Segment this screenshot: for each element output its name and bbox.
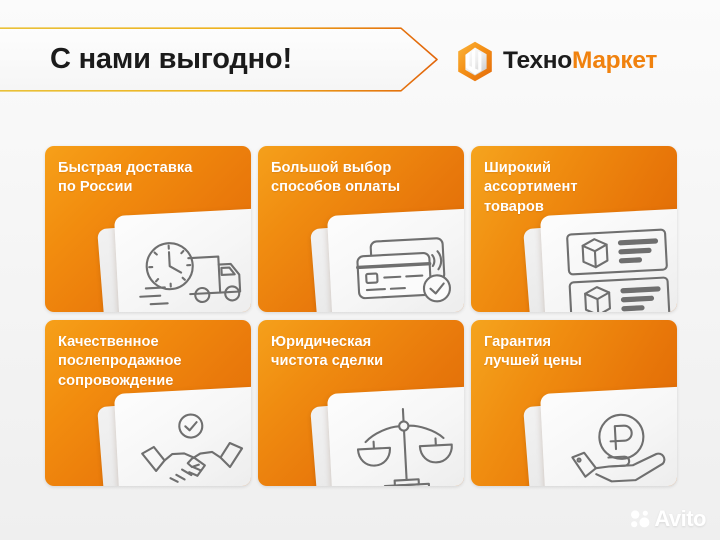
credit-card-check-icon <box>348 229 462 312</box>
promo-banner-image: С нами выгодно! <box>0 0 720 540</box>
feature-card-illustration <box>543 212 677 312</box>
illustration-sheet-front <box>114 208 251 312</box>
feature-card-illustration <box>330 212 464 312</box>
feature-card-illustration <box>543 390 677 486</box>
feature-card-grid: Быстрая доставка по России <box>45 146 676 486</box>
feature-card-illustration <box>117 390 251 486</box>
feature-card-best-price-guarantee[interactable]: Гарантия лучшей цены <box>471 320 677 486</box>
avito-dots-icon <box>630 509 650 529</box>
feature-card-title: Гарантия лучшей цены <box>484 333 665 372</box>
feature-card-title: Большой выбор способов оплаты <box>271 159 452 198</box>
illustration-sheet-front <box>540 386 677 486</box>
brand-name-part-2: Маркет <box>572 47 657 74</box>
brand-name-part-1: Техно <box>503 47 572 74</box>
feature-card-illustration <box>330 390 464 486</box>
headline-text: С нами выгодно! <box>50 27 292 92</box>
illustration-sheet-front <box>540 208 677 312</box>
technomarket-hex-logo-icon <box>456 41 494 82</box>
brand-logo-text: ТехноМаркет <box>503 49 657 74</box>
feature-card-title: Качественное послепродажное сопровождени… <box>58 333 239 391</box>
avito-watermark-text: Avito <box>654 508 706 530</box>
illustration-sheet-front <box>327 386 464 486</box>
feature-card-payment-methods[interactable]: Большой выбор способов оплаты <box>258 146 464 312</box>
feature-card-title: Быстрая доставка по России <box>58 159 239 198</box>
feature-card-illustration <box>117 212 251 312</box>
feature-card-wide-assortment[interactable]: Широкий ассортимент товаров <box>471 146 677 312</box>
illustration-sheet-front <box>114 386 251 486</box>
feature-card-title: Юридическая чистота сделки <box>271 333 452 372</box>
illustration-sheet-front <box>327 208 464 312</box>
feature-card-legal-purity[interactable]: Юридическая чистота сделки <box>258 320 464 486</box>
avito-watermark: Avito <box>630 508 706 530</box>
clock-truck-icon <box>131 229 251 312</box>
handshake-check-icon <box>136 410 248 486</box>
feature-card-title: Широкий ассортимент товаров <box>484 159 665 217</box>
feature-card-fast-delivery[interactable]: Быстрая доставка по России <box>45 146 251 312</box>
product-list-boxes-icon <box>560 223 677 312</box>
feature-card-after-sales-support[interactable]: Качественное послепродажное сопровождени… <box>45 320 251 486</box>
header: С нами выгодно! <box>0 0 720 118</box>
brand-logo[interactable]: ТехноМаркет <box>456 41 657 82</box>
headline-banner: С нами выгодно! <box>0 27 442 92</box>
hand-ruble-coin-icon <box>562 408 674 486</box>
scales-of-justice-icon <box>355 404 455 486</box>
